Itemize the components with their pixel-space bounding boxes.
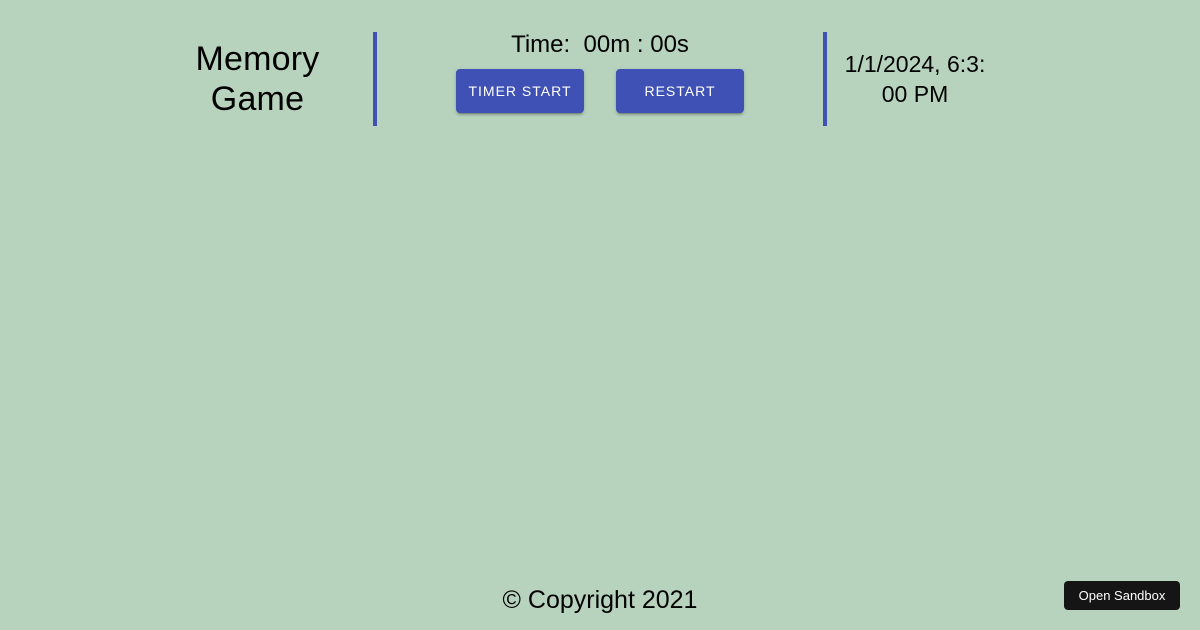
- app-root: Memory Game Time: 00m : 00s TIMER START …: [0, 0, 1200, 630]
- timer-display: Time: 00m : 00s: [511, 30, 689, 60]
- app-header: Memory Game Time: 00m : 00s TIMER START …: [0, 0, 1200, 158]
- open-sandbox-button[interactable]: Open Sandbox: [1064, 581, 1180, 610]
- timer-button-row: TIMER START RESTART: [456, 69, 744, 113]
- title-block: Memory Game: [150, 32, 365, 126]
- header-inner: Memory Game Time: 00m : 00s TIMER START …: [0, 0, 1200, 158]
- timer-block: Time: 00m : 00s TIMER START RESTART: [380, 30, 820, 113]
- current-datetime: 1/1/2024, 6:3:00 PM: [842, 49, 988, 109]
- memory-card-board: [0, 158, 1200, 570]
- timer-start-button[interactable]: TIMER START: [456, 69, 584, 113]
- copyright-text: © Copyright 2021: [503, 585, 698, 615]
- app-footer: © Copyright 2021: [0, 570, 1200, 630]
- page-title: Memory Game: [188, 39, 328, 119]
- header-divider-left: [373, 32, 377, 126]
- header-divider-right: [823, 32, 827, 126]
- restart-button[interactable]: RESTART: [616, 69, 744, 113]
- datetime-block: 1/1/2024, 6:3:00 PM: [832, 32, 998, 126]
